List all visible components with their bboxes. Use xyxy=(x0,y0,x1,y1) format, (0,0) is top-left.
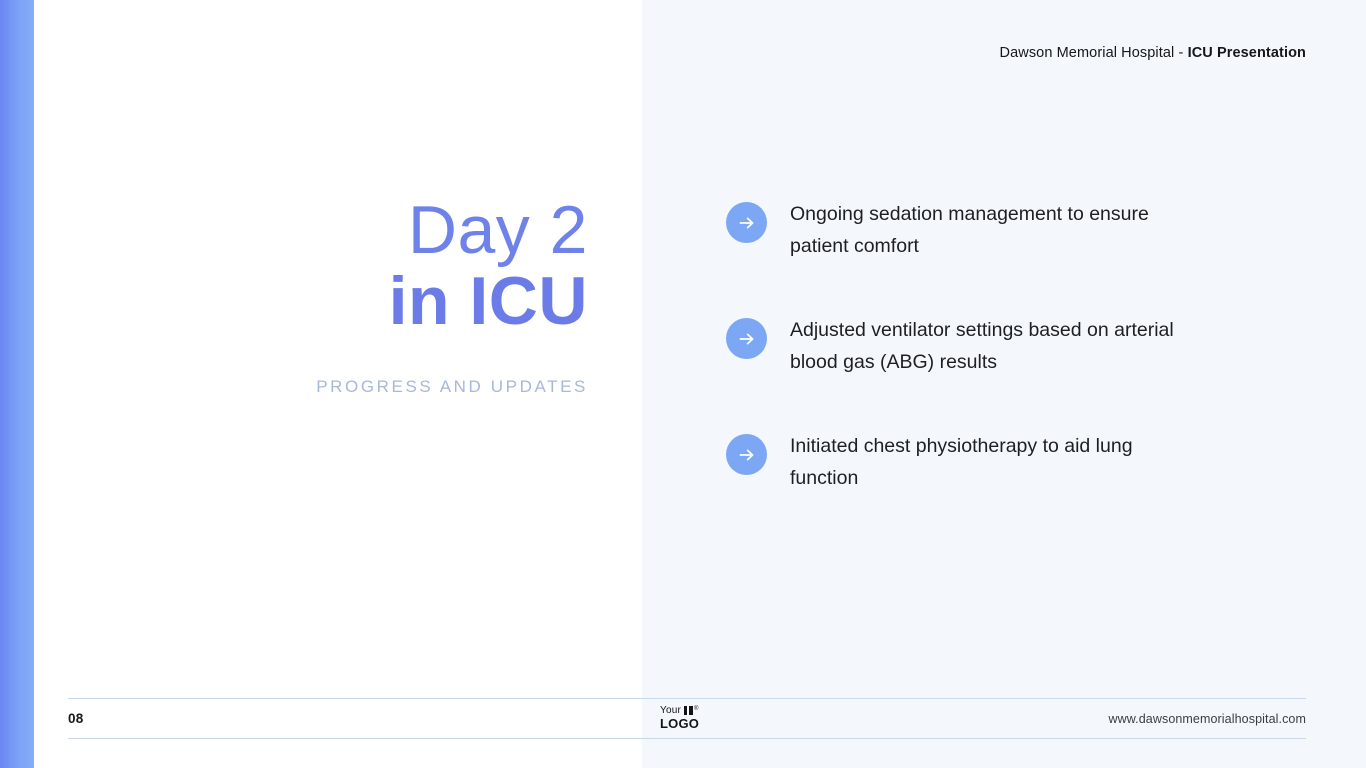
bullet-list: Ongoing sedation management to ensure pa… xyxy=(726,199,1196,494)
logo-registered-mark: ® xyxy=(694,706,699,712)
page-subtitle: PROGRESS AND UPDATES xyxy=(70,377,588,397)
list-item-label: Ongoing sedation management to ensure pa… xyxy=(790,199,1196,262)
arrow-right-icon xyxy=(726,318,767,359)
page-title-line-1: Day 2 xyxy=(70,196,588,265)
slide-header: Dawson Memorial Hospital - ICU Presentat… xyxy=(1000,45,1306,61)
logo-square-icon xyxy=(684,706,693,715)
logo-bottom-label: LOGO xyxy=(660,717,699,730)
title-block: Day 2 in ICU PROGRESS AND UPDATES xyxy=(70,196,588,397)
list-item-label: Initiated chest physiotherapy to aid lun… xyxy=(790,431,1196,494)
page-number: 08 xyxy=(68,711,83,726)
list-item: Ongoing sedation management to ensure pa… xyxy=(726,199,1196,262)
left-edge-gradient-stripe xyxy=(0,0,34,768)
page-title-line-2: in ICU xyxy=(70,265,588,338)
footer-divider-top xyxy=(68,698,1306,699)
footer-website-url: www.dawsonmemorialhospital.com xyxy=(1108,712,1306,726)
header-deck-name: ICU Presentation xyxy=(1188,45,1306,61)
arrow-right-icon xyxy=(726,434,767,475)
footer-divider-bottom xyxy=(68,738,1306,739)
list-item: Adjusted ventilator settings based on ar… xyxy=(726,315,1196,378)
list-item-label: Adjusted ventilator settings based on ar… xyxy=(790,315,1196,378)
arrow-right-icon xyxy=(726,202,767,243)
slide-root: Dawson Memorial Hospital - ICU Presentat… xyxy=(0,0,1366,768)
logo-top-row: Your ® xyxy=(660,706,699,716)
logo: Your ® LOGO xyxy=(660,706,699,730)
header-separator: - xyxy=(1174,45,1187,61)
header-organization: Dawson Memorial Hospital xyxy=(1000,45,1175,61)
logo-top-label: Your xyxy=(660,706,681,716)
list-item: Initiated chest physiotherapy to aid lun… xyxy=(726,431,1196,494)
